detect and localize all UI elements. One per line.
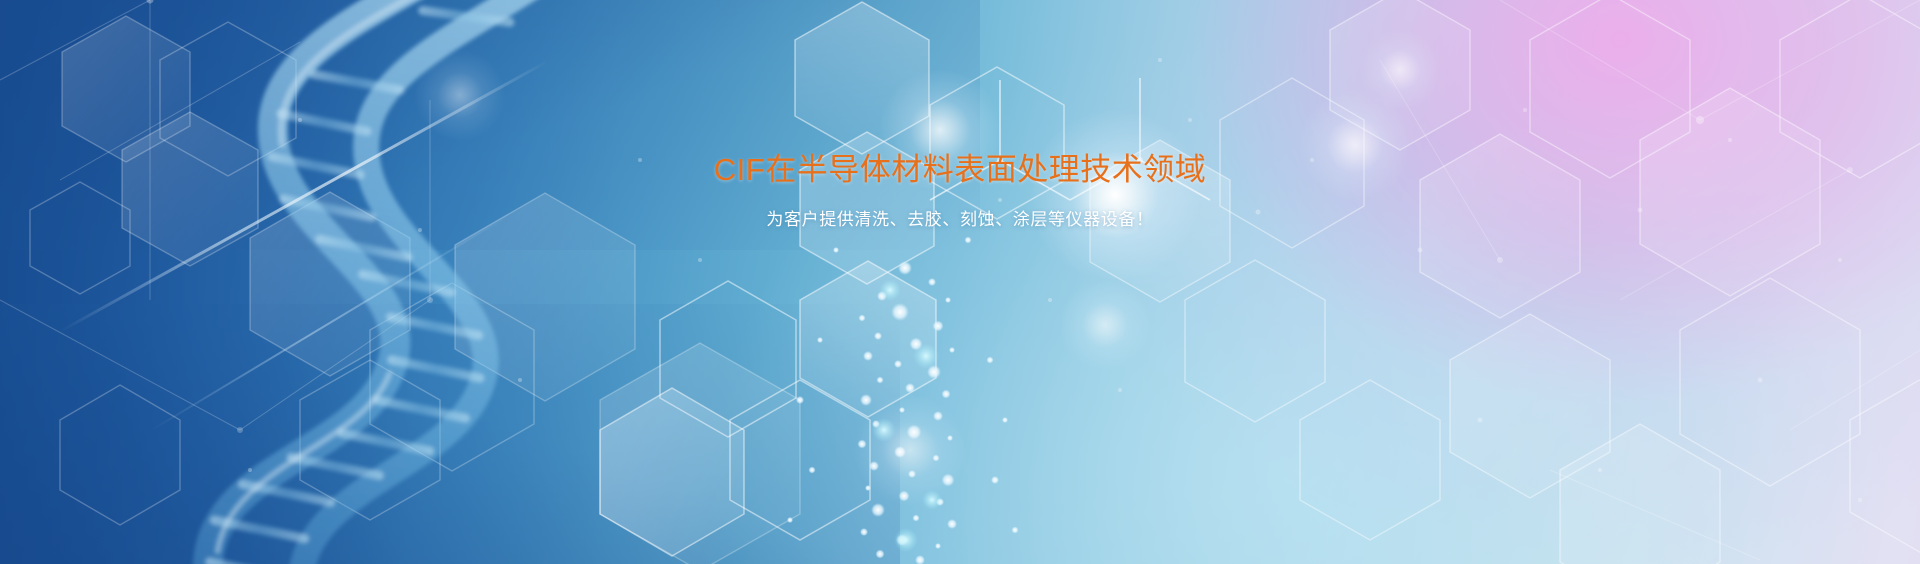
hero-banner: CIF在半导体材料表面处理技术领域 为客户提供清洗、去胶、刻蚀、涂层等仪器设备！ [0, 0, 1920, 564]
particle-bokeh-graphic [0, 0, 1920, 564]
